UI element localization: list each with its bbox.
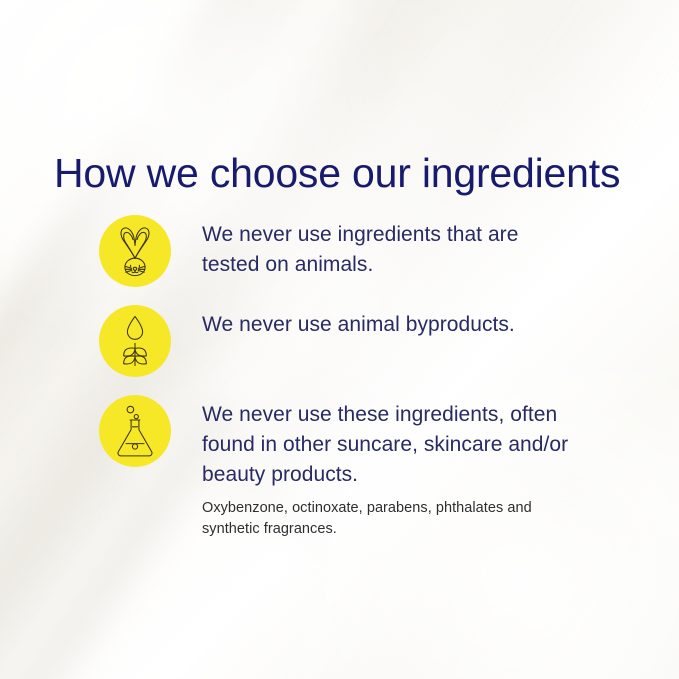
lab-flask-icon — [99, 395, 171, 467]
list-item-body: We never use animal byproducts. — [202, 310, 639, 340]
list-item-body: We never use these ingredients, often fo… — [202, 400, 602, 489]
ingredients-infographic: How we choose our ingredients — [0, 0, 679, 679]
content-area: How we choose our ingredients — [0, 0, 679, 679]
bunny-heart-ears-icon — [99, 215, 171, 287]
list-item-text: We never use ingredients that are tested… — [171, 215, 639, 280]
list-item-text: We never use animal byproducts. — [171, 305, 639, 340]
list-item: We never use ingredients that are tested… — [99, 215, 639, 287]
page-title: How we choose our ingredients — [54, 149, 620, 197]
benefits-list: We never use ingredients that are tested… — [99, 215, 639, 540]
plant-droplet-icon — [99, 305, 171, 377]
list-item: We never use animal byproducts. — [99, 305, 639, 377]
list-item-text: We never use these ingredients, often fo… — [171, 395, 639, 540]
list-item: We never use these ingredients, often fo… — [99, 395, 639, 540]
list-item-body: We never use ingredients that are tested… — [202, 220, 562, 280]
list-item-subnote: Oxybenzone, octinoxate, parabens, phthal… — [202, 498, 562, 540]
